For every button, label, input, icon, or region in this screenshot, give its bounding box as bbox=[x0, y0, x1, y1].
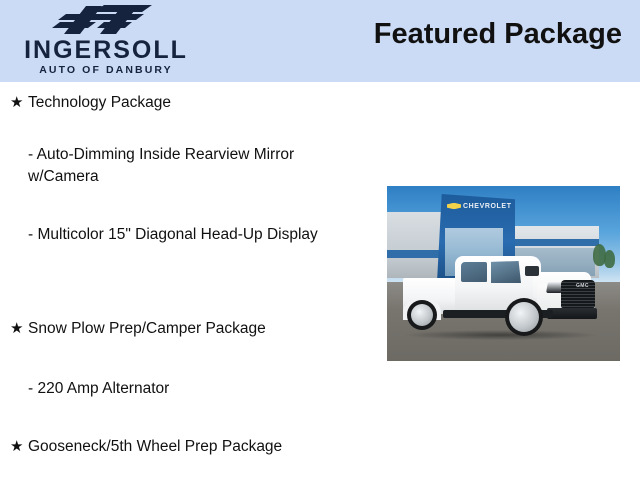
page-header: INGERSOLL AUTO OF DANBURY Featured Packa… bbox=[0, 0, 640, 82]
feature-label: Snow Plow Prep/Camper Package bbox=[28, 318, 368, 340]
truck-rear-rim bbox=[411, 304, 433, 326]
feature-label: Technology Package bbox=[28, 92, 368, 114]
truck-rear-wheel bbox=[407, 300, 437, 330]
feature-label: Gooseneck/5th Wheel Prep Package bbox=[28, 436, 368, 458]
list-item: ★ Gooseneck/5th Wheel Prep Package bbox=[0, 436, 368, 458]
dealer-logo[interactable]: INGERSOLL AUTO OF DANBURY bbox=[6, 2, 206, 80]
truck-rear-window bbox=[461, 262, 487, 282]
dealership-sign-text: CHEVROLET bbox=[463, 203, 512, 210]
truck-front-window bbox=[491, 261, 521, 283]
page-title: Featured Package bbox=[374, 18, 622, 51]
list-item: - Auto-Dimming Inside Rearview Mirror w/… bbox=[0, 144, 368, 188]
vehicle-photo-scene: CHEVROLET GMC bbox=[387, 186, 620, 361]
list-item: - Multicolor 15" Diagonal Head-Up Displa… bbox=[0, 224, 368, 246]
tree bbox=[604, 250, 615, 268]
truck-front-wheel bbox=[505, 298, 543, 336]
truck-shadow bbox=[405, 330, 597, 340]
list-item: ★ Snow Plow Prep/Camper Package bbox=[0, 318, 368, 340]
logo-wordmark: INGERSOLL bbox=[6, 36, 206, 64]
logo-tagline: AUTO OF DANBURY bbox=[6, 64, 206, 76]
star-bullet-icon: ★ bbox=[10, 318, 24, 340]
feature-label: - Auto-Dimming Inside Rearview Mirror w/… bbox=[28, 144, 358, 188]
truck-grille-badge: GMC bbox=[576, 283, 589, 289]
chevrolet-bowtie-icon bbox=[447, 203, 461, 209]
pickup-truck: GMC bbox=[403, 254, 601, 340]
truck-front-bumper bbox=[547, 308, 597, 319]
vehicle-photo[interactable]: CHEVROLET GMC bbox=[387, 186, 620, 361]
star-bullet-icon: ★ bbox=[10, 92, 24, 114]
content-area: ★ Technology Package - Auto-Dimming Insi… bbox=[0, 82, 640, 480]
feature-label: - Multicolor 15" Diagonal Head-Up Displa… bbox=[28, 224, 358, 246]
list-item: - 220 Amp Alternator bbox=[0, 378, 368, 400]
feature-label: - 220 Amp Alternator bbox=[28, 378, 358, 400]
truck-side-mirror bbox=[525, 266, 539, 276]
ingersoll-wing-emblem-icon bbox=[44, 4, 174, 36]
star-bullet-icon: ★ bbox=[10, 436, 24, 458]
truck-front-rim bbox=[509, 302, 539, 332]
dealership-wing-stripe bbox=[513, 239, 599, 246]
list-item: ★ Technology Package bbox=[0, 92, 368, 114]
